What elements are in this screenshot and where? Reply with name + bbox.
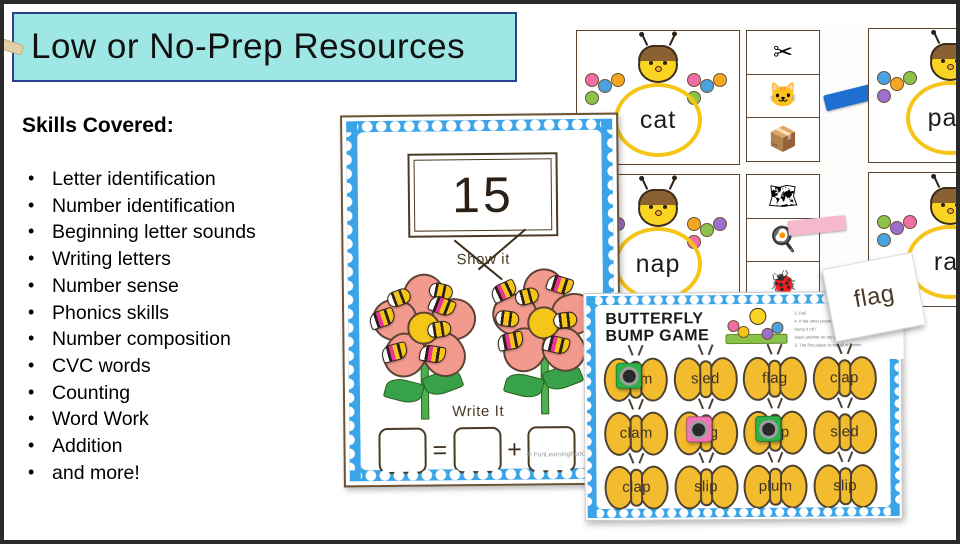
bee-antenna [934,177,940,188]
bee-hair [930,43,960,59]
skill-item: Beginning letter sounds [22,219,342,246]
flower-leaf-left [383,375,425,406]
skill-item: Letter identification [22,166,342,193]
butterfly-antenna [767,344,773,355]
map-icon[interactable]: 🗺 [746,174,820,219]
butterfly-word: plum [759,477,793,494]
flower-icon [611,73,625,87]
bee-eye [941,59,945,63]
game-marker-cube[interactable] [616,363,642,389]
equation-answer-box [453,427,501,474]
bee-nose [655,210,662,216]
flower-icon [903,215,917,229]
bee-hair [638,45,678,61]
butterfly-word: slip [694,478,718,495]
worksheet-page: 15 Show it [357,130,605,471]
bee-eye [955,203,959,207]
flower-icon [700,223,714,237]
skill-item: CVC words [22,353,342,380]
skill-item: Counting [22,380,342,407]
butterfly-word: sled [830,423,859,440]
bee-antenna [642,179,648,190]
game-marker-cube[interactable] [755,416,781,442]
bee-hair [930,187,960,203]
butterfly-space[interactable]: flag [741,352,809,404]
game-title-line2: BUMP GAME [605,327,709,345]
show-it-label: Show it [456,251,510,269]
equation-row: =+ [378,426,594,474]
game-title-line1: BUTTERFLY [605,310,709,328]
card-word: rat [934,248,960,277]
skill-item: Word Work [22,406,342,433]
game-marker-cube[interactable] [686,416,712,442]
bee-eye [663,205,667,209]
bee-icon [749,308,766,325]
bee-eye [663,61,667,65]
write-it-label: Write It [452,403,504,421]
flower-icon [585,73,599,87]
butterfly-antenna [628,345,634,356]
flower-icon [877,71,891,85]
bee-icon [924,181,960,227]
scissors-icon-glyph: ✂ [773,41,793,65]
flower-icon [877,215,891,229]
bee-nose [947,64,954,70]
card-word: pan [928,104,960,133]
skill-item: Phonics skills [22,300,342,327]
bee-eye [649,205,653,209]
flower-icon [890,77,904,91]
plus-sign: + [507,435,522,464]
skills-heading: Skills Covered: [22,114,174,138]
box-icon[interactable]: 📦 [746,117,820,162]
butterfly-antenna [638,345,644,356]
flower-icon [585,91,599,105]
word-ring: nap [614,227,702,301]
flag-word-card: flag [822,252,926,342]
picture-choice-column: ✂🐱📦 [746,30,820,161]
equation-answer-box [378,428,426,475]
flower-icon [713,217,727,231]
bee-nose [655,66,662,72]
scissors-icon[interactable]: ✂ [746,30,820,75]
flower-leaf-left [503,370,545,401]
butterfly-word: sled [691,370,720,387]
butterfly-grid: plumsledflagclapclamflagclapsledclapslip… [602,351,881,513]
bee-antenna [669,179,675,190]
box-icon-glyph: 📦 [768,128,798,152]
equation-answer-box [528,426,576,473]
bee-eye [955,59,959,63]
bee-icon [632,39,684,85]
skill-item: Number composition [22,326,342,353]
flower-icon [761,328,773,340]
bee-antenna [934,33,940,44]
butterfly-space[interactable]: slip [672,460,740,512]
number-value: 15 [452,166,514,225]
butterfly-word: slip [833,477,857,494]
butterfly-space[interactable]: clap [602,461,670,513]
butterfly-word: clap [622,478,651,495]
cat-icon[interactable]: 🐱 [746,74,820,119]
flower-number-worksheet-photo: 15 Show it [340,113,622,488]
card-word: nap [636,250,681,279]
flag-word-text: flag [852,280,897,315]
bee-eye [649,61,653,65]
butterfly-space[interactable]: plum [741,460,809,512]
slide-canvas: Low or No-Prep Resources Skills Covered:… [0,0,960,544]
butterfly-space[interactable]: flag [672,406,740,458]
butterfly-space[interactable]: clap [810,351,878,403]
butterfly-antenna [777,344,783,355]
bee-antenna [669,35,675,46]
bee-icon [632,183,684,229]
skill-item: Writing letters [22,246,342,273]
butterfly-space[interactable]: slip [811,459,879,511]
game-title: BUTTERFLY BUMP GAME [605,310,709,345]
butterfly-space[interactable]: sled [810,405,878,457]
skill-item: and more! [22,460,342,487]
flower-graphic-left [367,271,487,422]
bee-antenna [642,35,648,46]
butterfly-antenna [707,344,713,355]
bee-word-card[interactable]: pan [868,28,960,163]
flower-icon [687,217,701,231]
word-ring: cat [614,83,702,157]
butterfly-word: clap [830,369,859,386]
flower-icon [890,221,904,235]
skill-item: Number identification [22,193,342,220]
skill-item: Addition [22,433,342,460]
butterfly-word: clam [620,424,653,441]
butterfly-antenna [697,344,703,355]
cat-icon-glyph: 🐱 [768,84,798,108]
map-icon-glyph: 🗺 [768,185,798,209]
butterfly-space[interactable]: plum [602,353,670,405]
flower-icon [737,326,749,338]
butterfly-space[interactable]: sled [671,352,739,404]
butterfly-space[interactable]: clam [602,407,670,459]
bee-hair [638,189,678,205]
copyright-text: © FunLearningForKids [527,451,593,459]
butterfly-space[interactable]: clap [741,406,809,458]
flower-icon [700,79,714,93]
skills-list: Letter identificationNumber identificati… [22,166,342,486]
flower-icon [713,73,727,87]
bee-nose [947,208,954,214]
skill-item: Number sense [22,273,342,300]
bee-icon [924,37,960,83]
grass-strip [725,334,787,344]
flower-icon [877,89,891,103]
flower-icon [903,71,917,85]
header-banner: Low or No-Prep Resources [12,12,517,82]
bee-and-flowers-clipart [725,308,787,344]
number-card: 15 [407,152,558,238]
flower-icon [687,73,701,87]
flower-icon [877,233,891,247]
bee-eye [941,203,945,207]
flower-icon [598,79,612,93]
equals-sign: = [432,436,447,465]
worksheet-scalloped-border: 15 Show it [346,119,616,482]
page-title: Low or No-Prep Resources [14,27,465,67]
butterfly-word: flag [762,369,788,386]
picture-choice-column: 🗺🍳🐞 [746,174,820,305]
card-word: cat [640,106,676,135]
